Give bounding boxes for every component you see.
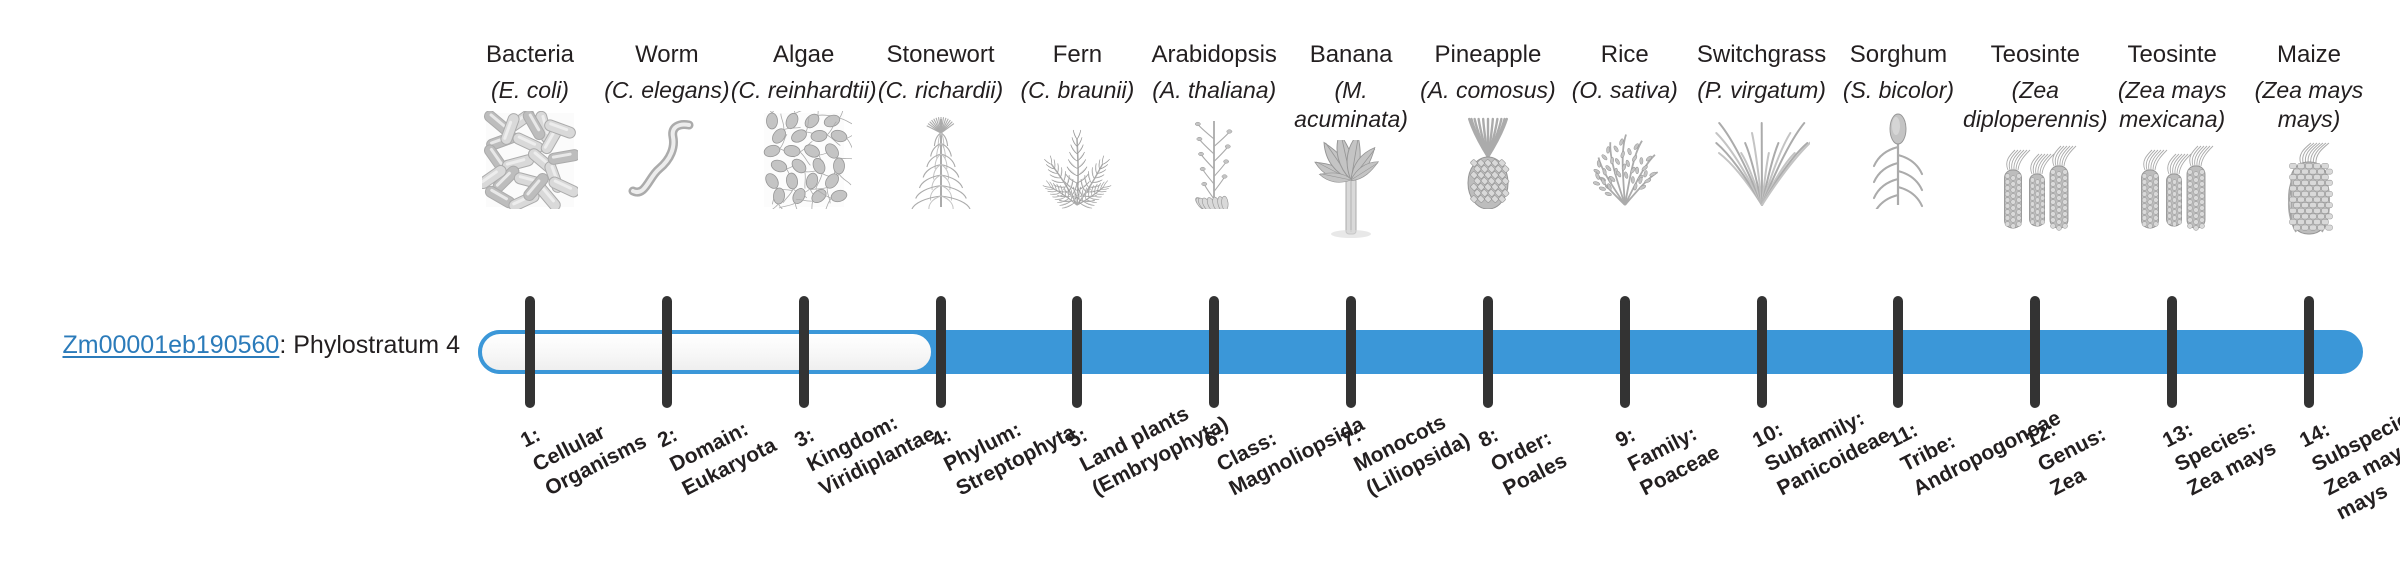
species-latin-name: (Zea diploperennis) — [1960, 76, 2110, 134]
banana-plant-illustration — [1276, 140, 1426, 238]
species-header-row: Bacteria(E. coli) — [470, 40, 2370, 300]
species-latin-name: (O. sativa) — [1550, 76, 1700, 105]
species-latin-name: (S. bicolor) — [1823, 76, 1973, 105]
species-latin-name: (A. comosus) — [1413, 76, 1563, 105]
phylostratum-rank-label: 9: Family: Poaceae — [1611, 391, 1724, 502]
fern-illustration — [1029, 111, 1125, 209]
species-column: Arabidopsis(A. thaliana) — [1139, 40, 1289, 209]
species-latin-name: (A. thaliana) — [1139, 76, 1289, 105]
phylostratum-rank-label: 3: Kingdom: Viridiplantae — [790, 372, 940, 502]
species-latin-name: (Zea mays mexicana) — [2097, 76, 2247, 134]
phylostratum-tick[interactable] — [2304, 296, 2314, 408]
gene-phylostratum-value: Phylostratum 4 — [293, 331, 460, 359]
teosinte-mexicana-ears-illustration — [2124, 140, 2220, 238]
phylostratum-tick[interactable] — [1757, 296, 1767, 408]
stonewort-illustration — [893, 111, 989, 209]
algae-cells-illustration — [729, 111, 879, 209]
phylostratum-tick[interactable] — [1893, 296, 1903, 408]
species-column: Banana(M. acuminata) — [1276, 40, 1426, 238]
species-column: Bacteria(E. coli) — [455, 40, 605, 209]
species-latin-name: (Zea mays mays) — [2234, 76, 2384, 134]
phylostratum-tick[interactable] — [936, 296, 946, 408]
arabidopsis-illustration — [1166, 111, 1262, 209]
fern-illustration — [1002, 111, 1152, 209]
phylostratum-tick[interactable] — [662, 296, 672, 408]
gene-id-link[interactable]: Zm00001eb190560 — [62, 331, 279, 359]
arabidopsis-illustration — [1139, 111, 1289, 209]
species-common-name: Sorghum — [1823, 40, 1973, 70]
phylostratum-tick[interactable] — [1483, 296, 1493, 408]
phylostratum-rank-label: 4: Phylum: Streptophyta — [927, 371, 1080, 503]
phylostratum-tick[interactable] — [525, 296, 535, 408]
switchgrass-illustration — [1714, 111, 1810, 209]
species-column: Fern(C. braunii) — [1002, 40, 1152, 209]
pineapple-illustration — [1440, 111, 1536, 209]
species-common-name: Stonewort — [866, 40, 1016, 70]
species-common-name: Bacteria — [455, 40, 605, 70]
phylostratum-tick[interactable] — [2167, 296, 2177, 408]
species-column: Stonewort(C. richardii) — [866, 40, 1016, 209]
species-column: Maize(Zea mays mays) — [2234, 40, 2384, 238]
stonewort-illustration — [866, 111, 1016, 209]
maize-ear-illustration — [2261, 140, 2357, 238]
species-latin-name: (C. reinhardtii) — [729, 76, 879, 105]
nematode-illustration — [592, 111, 742, 209]
pineapple-illustration — [1413, 111, 1563, 209]
teosinte-ears-illustration — [1987, 140, 2083, 238]
species-latin-name: (P. virgatum) — [1687, 76, 1837, 105]
switchgrass-illustration — [1687, 111, 1837, 209]
species-latin-name: (C. richardii) — [866, 76, 1016, 105]
nematode-illustration — [619, 111, 715, 209]
species-column: Worm(C. elegans) — [592, 40, 742, 209]
rice-plant-illustration — [1550, 111, 1700, 209]
species-common-name: Teosinte — [2097, 40, 2247, 70]
phylostratum-rank-label: 2: Domain: Eukaryota — [653, 383, 781, 502]
phylostratum-tick[interactable] — [1346, 296, 1356, 408]
rice-plant-illustration — [1577, 111, 1673, 209]
species-column: Teosinte(Zea mays mexicana) — [2097, 40, 2247, 238]
species-common-name: Teosinte — [1960, 40, 2110, 70]
gene-label-separator: : — [279, 331, 293, 359]
bacteria-illustration — [482, 111, 578, 209]
sorghum-illustration — [1823, 111, 1973, 209]
phylostratum-rank-label: 8: Order: Poales — [1474, 399, 1572, 502]
species-latin-name: (M. acuminata) — [1276, 76, 1426, 134]
progress-bar-unfilled — [478, 330, 935, 374]
banana-plant-illustration — [1303, 140, 1399, 238]
phylostratum-tick[interactable] — [1072, 296, 1082, 408]
phylostratum-tick[interactable] — [1620, 296, 1630, 408]
species-column: Algae(C. reinhardtii) — [729, 40, 879, 209]
teosinte-mexicana-ears-illustration — [2097, 140, 2247, 238]
species-column: Sorghum(S. bicolor) — [1823, 40, 1973, 209]
species-latin-name: (C. braunii) — [1002, 76, 1152, 105]
phylostratum-tick[interactable] — [799, 296, 809, 408]
species-common-name: Arabidopsis — [1139, 40, 1289, 70]
species-common-name: Worm — [592, 40, 742, 70]
species-common-name: Banana — [1276, 40, 1426, 70]
species-common-name: Maize — [2234, 40, 2384, 70]
phylostratum-rank-label: 7: Monocots (Liliopsida) — [1337, 379, 1475, 503]
species-latin-name: (C. elegans) — [592, 76, 742, 105]
species-latin-name: (E. coli) — [455, 76, 605, 105]
species-column: Teosinte(Zea diploperennis) — [1960, 40, 2110, 238]
species-common-name: Rice — [1550, 40, 1700, 70]
maize-ear-illustration — [2234, 140, 2384, 238]
sorghum-illustration — [1850, 111, 1946, 209]
algae-cells-illustration — [756, 111, 852, 209]
teosinte-ears-illustration — [1960, 140, 2110, 238]
phylostratum-rank-label: 1: Cellular Organisms — [516, 380, 651, 502]
species-column: Rice(O. sativa) — [1550, 40, 1700, 209]
species-common-name: Switchgrass — [1687, 40, 1837, 70]
species-column: Pineapple(A. comosus) — [1413, 40, 1563, 209]
species-common-name: Algae — [729, 40, 879, 70]
species-common-name: Fern — [1002, 40, 1152, 70]
gene-phylostratum-label: Zm00001eb190560: Phylostratum 4 — [0, 330, 460, 360]
phylostratum-rank-label: 10: Subfamily: Panicoideae — [1748, 374, 1895, 502]
phylostratum-progress-bar[interactable] — [478, 330, 2363, 374]
species-column: Switchgrass(P. virgatum) — [1687, 40, 1837, 209]
bacteria-illustration — [455, 111, 605, 209]
phylostratum-timeline-figure: Zm00001eb190560: Phylostratum 4 Bacteria… — [0, 0, 2400, 580]
species-common-name: Pineapple — [1413, 40, 1563, 70]
